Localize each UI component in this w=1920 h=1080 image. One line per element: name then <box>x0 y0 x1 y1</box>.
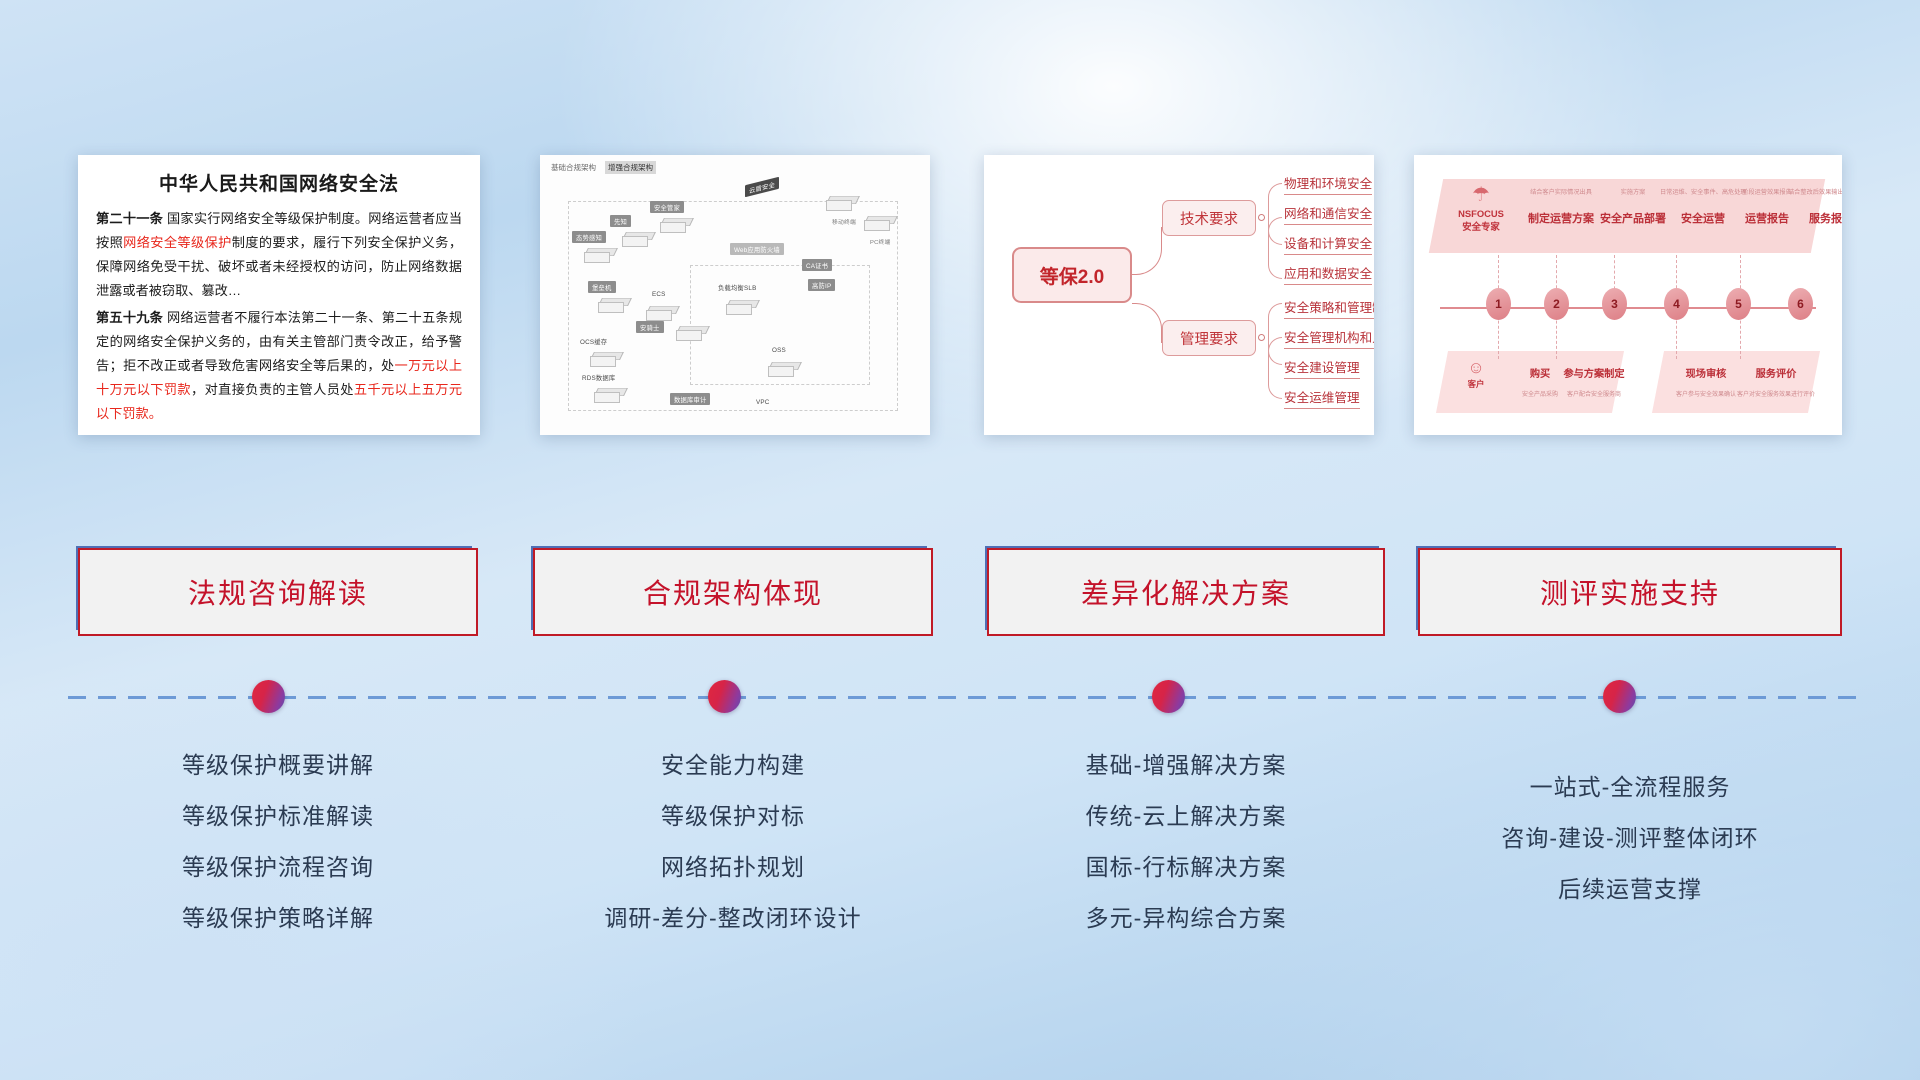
axis-marker-4[interactable] <box>1603 680 1636 713</box>
list-item[interactable]: 调研-差分-整改闭环设计 <box>533 893 933 944</box>
slide-canvas: 中华人民共和国网络安全法 第二十一条 国家实行网络安全等级保护制度。网络运营者应… <box>0 0 1920 1080</box>
icon-server-box <box>590 347 620 369</box>
list-item[interactable]: 等级保护对标 <box>533 791 933 842</box>
mind-leaf-construction[interactable]: 安全建设管理 <box>1284 357 1360 379</box>
list-item[interactable]: 传统-云上解决方案 <box>987 791 1385 842</box>
connector-root-to-tech <box>1132 227 1162 275</box>
law-article-21: 第二十一条 国家实行网络安全等级保护制度。网络运营者应当按照网络安全等级保护制度… <box>96 207 462 303</box>
law-article-21-highlight: 网络安全等级保护 <box>123 235 232 250</box>
list-item[interactable]: 国标-行标解决方案 <box>987 842 1385 893</box>
icon-server-box <box>584 243 614 265</box>
node-server-guard[interactable]: 安骑士 <box>636 321 664 333</box>
icon-server-box <box>768 357 798 379</box>
timeline-node-4[interactable]: 4 <box>1664 288 1689 320</box>
card-service-timeline[interactable]: ☂ NSFOCUS 安全专家 结合客户实际情况出具 制定运营方案 实施方案 安全… <box>1414 155 1842 435</box>
list-item[interactable]: 多元-异构综合方案 <box>987 893 1385 944</box>
timeline-canvas: ☂ NSFOCUS 安全专家 结合客户实际情况出具 制定运营方案 实施方案 安全… <box>1414 155 1842 435</box>
list-item[interactable]: 等级保护策略详解 <box>78 893 478 944</box>
detail-list-regulation-consulting: 等级保护概要讲解 等级保护标准解读 等级保护流程咨询 等级保护策略详解 <box>78 740 478 944</box>
icon-server-box <box>660 213 690 235</box>
list-item[interactable]: 等级保护标准解读 <box>78 791 478 842</box>
card-row: 中华人民共和国网络安全法 第二十一条 国家实行网络安全等级保护制度。网络运营者应… <box>0 0 1920 420</box>
law-article-21-label: 第二十一条 <box>96 211 163 226</box>
axis-marker-3[interactable] <box>1152 680 1185 713</box>
axis-marker-2[interactable] <box>708 680 741 713</box>
law-article-59-label: 第五十九条 <box>96 310 163 325</box>
law-article-59: 第五十九条 网络运营者不履行本法第二十一条、第二十五条规定的网络安全保护义务的，… <box>96 306 462 426</box>
timeline-node-5[interactable]: 5 <box>1726 288 1751 320</box>
mind-leaf-policy-system[interactable]: 安全策略和管理制度 <box>1284 297 1374 319</box>
detail-list-row: 等级保护概要讲解 等级保护标准解读 等级保护流程咨询 等级保护策略详解 安全能力… <box>0 740 1920 960</box>
icon-server-box <box>646 301 676 323</box>
mind-map-root[interactable]: 等保2.0 <box>1012 247 1132 303</box>
node-ca-certificate[interactable]: CA证书 <box>802 259 832 271</box>
law-body: 中华人民共和国网络安全法 第二十一条 国家实行网络安全等级保护制度。网络运营者应… <box>78 155 480 435</box>
tab-basic-architecture[interactable]: 基础合规架构 <box>548 161 599 174</box>
mind-leaf-org-personnel[interactable]: 安全管理机构和人员 <box>1284 327 1374 349</box>
timeline-dashed-axis <box>68 696 1858 699</box>
architecture-canvas: 基础合规架构 增强合规架构 云盾安全 安全管家 先知 态势感知 堡垒机 ECS <box>540 155 930 435</box>
section-title-regulation-consulting-label: 法规咨询解读 <box>188 572 368 612</box>
timeline-node-3[interactable]: 3 <box>1602 288 1627 320</box>
timeline-bottom-4-sub: 客户对安全服务效果进行评价 <box>1734 389 1818 398</box>
connector-root-to-mgmt <box>1132 303 1162 343</box>
section-title-differentiated-solution[interactable]: 差异化解决方案 <box>987 548 1385 636</box>
list-item[interactable]: 后续运营支撑 <box>1418 864 1842 915</box>
section-title-assessment-support[interactable]: 测评实施支持 <box>1418 548 1842 636</box>
icon-pc-device <box>864 211 886 237</box>
timeline-bottom-2[interactable]: 参与方案制定 客户配合安全服务商 <box>1552 365 1636 398</box>
connector-tech-fan-lower <box>1268 217 1282 279</box>
section-title-compliance-architecture[interactable]: 合规架构体现 <box>533 548 933 636</box>
card-architecture-diagram[interactable]: 基础合规架构 增强合规架构 云盾安全 安全管家 先知 态势感知 堡垒机 ECS <box>540 155 930 435</box>
axis-marker-1[interactable] <box>252 680 285 713</box>
isometric-scene: 云盾安全 安全管家 先知 态势感知 堡垒机 ECS Web应用防火墙 负载均衡S… <box>540 155 930 435</box>
timeline-bottom-2-main: 参与方案制定 <box>1552 365 1636 380</box>
list-item[interactable]: 网络拓扑规划 <box>533 842 933 893</box>
node-bastion-host[interactable]: 堡垒机 <box>588 281 616 293</box>
section-title-compliance-architecture-label: 合规架构体现 <box>643 572 823 612</box>
connector-mgmt-fan-lower <box>1268 337 1282 399</box>
timeline-step-5-sub: 结合整改后效果输出总体项目服务报告 <box>1788 187 1842 196</box>
customer-label: 客户 <box>1450 378 1502 390</box>
list-item[interactable]: 等级保护概要讲解 <box>78 740 478 791</box>
icon-mobile-device <box>826 191 848 217</box>
mind-map-canvas: 等保2.0 技术要求 管理要求 物理和环境安全 网络和通信安全 设备和计算安全 … <box>984 155 1374 435</box>
list-item[interactable]: 一站式-全流程服务 <box>1418 762 1842 813</box>
timeline-step-5[interactable]: 结合整改后效果输出总体项目服务报告 服务报告 <box>1788 187 1842 226</box>
section-title-differentiated-solution-label: 差异化解决方案 <box>1081 572 1291 612</box>
node-xianzhi[interactable]: 先知 <box>610 215 631 227</box>
list-item[interactable]: 安全能力构建 <box>533 740 933 791</box>
mind-node-dot-mgmt[interactable] <box>1258 334 1265 341</box>
card-law-document[interactable]: 中华人民共和国网络安全法 第二十一条 国家实行网络安全等级保护制度。网络运营者应… <box>78 155 480 435</box>
expert-label-line2: 安全专家 <box>1448 219 1514 233</box>
node-cloud-shield[interactable]: 云盾安全 <box>745 177 779 197</box>
icon-server-box <box>726 295 756 317</box>
icon-server-box <box>594 383 624 405</box>
detail-list-differentiated-solution: 基础-增强解决方案 传统-云上解决方案 国标-行标解决方案 多元-异构综合方案 <box>987 740 1385 944</box>
node-load-balancer[interactable]: 负载均衡SLB <box>718 283 757 292</box>
expert-label-line1: NSFOCUS <box>1448 208 1514 219</box>
detail-list-compliance-architecture: 安全能力构建 等级保护对标 网络拓扑规划 调研-差分-整改闭环设计 <box>533 740 933 944</box>
section-title-regulation-consulting[interactable]: 法规咨询解读 <box>78 548 478 636</box>
mind-branch-management[interactable]: 管理要求 <box>1162 320 1256 356</box>
node-database-audit[interactable]: 数据库审计 <box>670 393 710 405</box>
icon-server-box <box>622 227 652 249</box>
law-title: 中华人民共和国网络安全法 <box>96 169 462 196</box>
node-pc-terminal[interactable]: PC终端 <box>870 237 890 246</box>
node-rds-database[interactable]: RDS数据库 <box>582 373 615 382</box>
list-item[interactable]: 等级保护流程咨询 <box>78 842 478 893</box>
node-oss[interactable]: OSS <box>772 347 786 354</box>
mind-leaf-device-compute[interactable]: 设备和计算安全 <box>1284 233 1372 255</box>
timeline-node-6[interactable]: 6 <box>1788 288 1813 320</box>
node-ecs[interactable]: ECS <box>652 291 666 298</box>
customer-badge: ☺ 客户 <box>1450 359 1502 390</box>
mind-leaf-physical-env[interactable]: 物理和环境安全 <box>1284 173 1372 195</box>
tab-enhanced-architecture[interactable]: 增强合规架构 <box>605 161 656 174</box>
section-title-assessment-support-label: 测评实施支持 <box>1540 572 1720 612</box>
expert-badge: ☂ NSFOCUS 安全专家 <box>1448 185 1514 233</box>
detail-list-assessment-support: 一站式-全流程服务 咨询-建设-测评整体闭环 后续运营支撑 <box>1418 762 1842 915</box>
node-web-application-firewall[interactable]: Web应用防火墙 <box>730 243 784 255</box>
list-item[interactable]: 基础-增强解决方案 <box>987 740 1385 791</box>
node-ocs-cache[interactable]: OCS缓存 <box>580 337 607 346</box>
timeline-bottom-4[interactable]: 服务评价 客户对安全服务效果进行评价 <box>1734 365 1818 398</box>
person-icon: ☺ <box>1450 359 1502 376</box>
mind-node-dot-tech[interactable] <box>1258 214 1265 221</box>
timeline-node-2[interactable]: 2 <box>1544 288 1569 320</box>
mind-leaf-network-comm[interactable]: 网络和通信安全 <box>1284 203 1372 225</box>
node-situational-awareness[interactable]: 态势感知 <box>572 231 606 243</box>
node-vpc[interactable]: VPC <box>756 399 770 406</box>
person-star-icon: ☂ <box>1448 185 1514 205</box>
mind-leaf-app-data[interactable]: 应用和数据安全 <box>1284 263 1372 285</box>
law-article-59-text-2: ，对直接负责的主管人员处 <box>191 382 354 397</box>
timeline-bottom-2-sub: 客户配合安全服务商 <box>1552 389 1636 398</box>
node-mobile-terminal[interactable]: 移动终端 <box>832 217 856 226</box>
card-mind-map[interactable]: 等保2.0 技术要求 管理要求 物理和环境安全 网络和通信安全 设备和计算安全 … <box>984 155 1374 435</box>
architecture-tabs[interactable]: 基础合规架构 增强合规架构 <box>548 161 656 174</box>
timeline-node-1[interactable]: 1 <box>1486 288 1511 320</box>
node-anti-ddos-ip[interactable]: 高防IP <box>808 279 835 291</box>
icon-server-box <box>598 293 628 315</box>
mind-branch-technical[interactable]: 技术要求 <box>1162 200 1256 236</box>
icon-server-box <box>676 321 706 343</box>
mind-leaf-operations[interactable]: 安全运维管理 <box>1284 387 1360 409</box>
timeline-step-5-main: 服务报告 <box>1788 210 1842 226</box>
section-title-row: 法规咨询解读 合规架构体现 差异化解决方案 测评实施支持 <box>0 548 1920 648</box>
list-item[interactable]: 咨询-建设-测评整体闭环 <box>1418 813 1842 864</box>
node-security-butler[interactable]: 安全管家 <box>650 201 684 213</box>
timeline-bottom-4-main: 服务评价 <box>1734 365 1818 380</box>
